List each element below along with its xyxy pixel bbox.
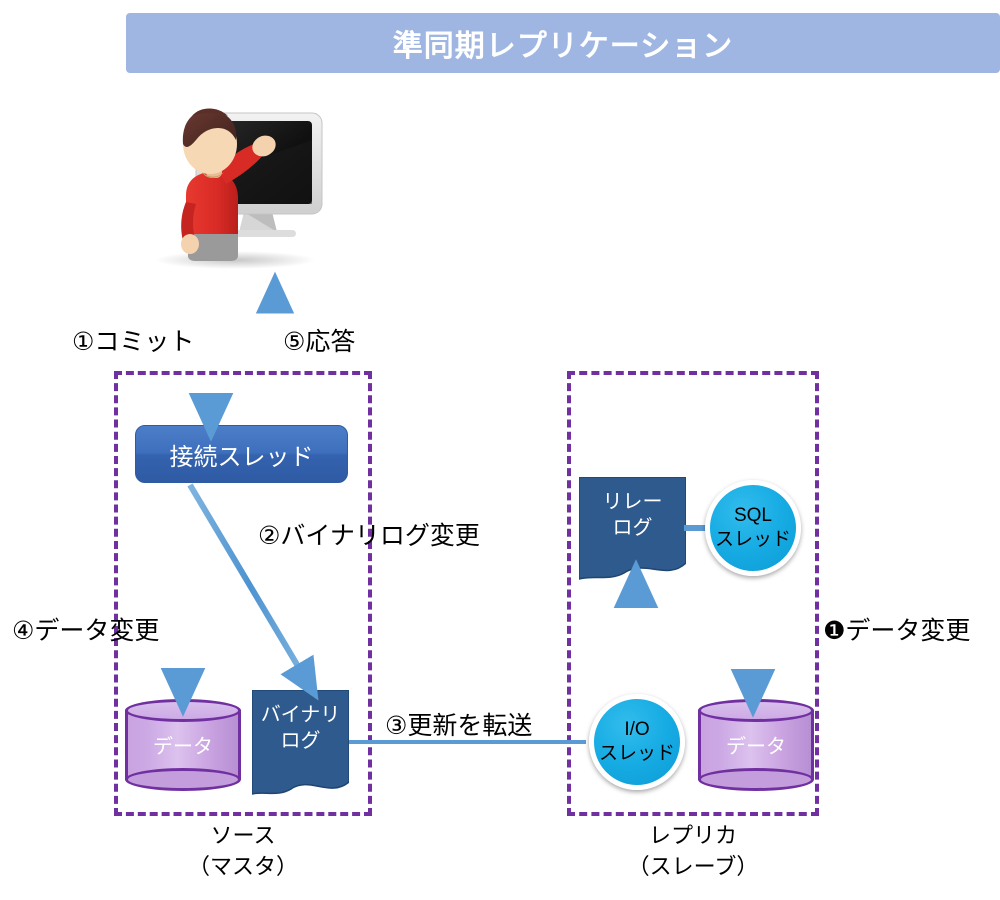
source-group-caption: ソース （マスタ）: [114, 820, 372, 882]
binary-log-node: バイナリ ログ: [252, 690, 349, 798]
step-label-binlog-change: ②バイナリログ変更: [258, 516, 480, 552]
source-data-label: データ: [125, 730, 241, 759]
step-label-data-change-source: ④データ変更: [12, 611, 159, 647]
replica-data-cylinder: データ: [698, 699, 814, 791]
page-title: 準同期レプリケーション: [393, 21, 733, 65]
relay-log-label: リレー ログ: [579, 489, 686, 541]
io-thread-node: I/O スレッド: [589, 694, 685, 790]
connection-thread-label: 接続スレッド: [170, 437, 314, 472]
io-thread-label: I/O スレッド: [599, 718, 675, 766]
cylinder-bottom: [698, 768, 814, 791]
relay-log-node: リレー ログ: [579, 477, 686, 581]
step-label-transfer-updates: ③更新を転送: [385, 706, 532, 742]
cylinder-bottom: [125, 768, 241, 791]
diagram-canvas: 準同期レプリケーション: [0, 0, 1000, 900]
replica-group-caption: レプリカ （スレーブ）: [567, 820, 819, 882]
step-label-commit: ①コミット: [72, 322, 194, 358]
source-data-cylinder: データ: [125, 699, 241, 791]
cylinder-top: [125, 699, 241, 722]
user-at-monitor-illustration: [140, 92, 350, 272]
binary-log-label: バイナリ ログ: [252, 702, 349, 754]
cylinder-top: [698, 699, 814, 722]
step-label-response: ⑤応答: [283, 322, 355, 358]
sql-thread-node: SQL スレッド: [705, 480, 801, 576]
replica-data-label: データ: [698, 730, 814, 759]
title-banner: 準同期レプリケーション: [126, 13, 1000, 73]
connection-thread-node: 接続スレッド: [135, 425, 348, 483]
step-label-data-change-replica: ❶データ変更: [823, 611, 970, 647]
sql-thread-label: SQL スレッド: [715, 504, 791, 552]
